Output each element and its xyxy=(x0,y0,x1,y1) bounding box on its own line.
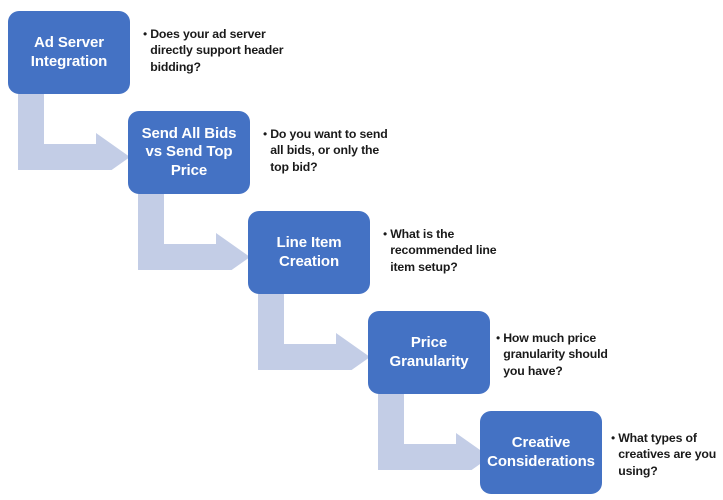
step-note-price-granularity: •How much price granularity should you h… xyxy=(496,330,621,379)
arrow-shape xyxy=(258,294,370,370)
bullet-icon: • xyxy=(263,126,267,142)
connector-2-to-3-glyph xyxy=(138,194,250,270)
step-note-text-ad-server-integration: Does your ad server directly support hea… xyxy=(150,26,293,75)
step-node-ad-server-integration[interactable]: Ad Server Integration xyxy=(8,11,130,94)
step-note-send-all-bids-vs-send-top-price: •Do you want to send all bids, or only t… xyxy=(263,126,391,175)
arrow-shape xyxy=(378,394,490,470)
step-label-line-item-creation: Line Item Creation xyxy=(277,234,342,271)
connector-1-to-2-glyph xyxy=(18,94,130,170)
arrow-shape xyxy=(18,94,130,170)
step-node-creative-considerations[interactable]: Creative Considerations xyxy=(480,411,602,494)
step-label-creative-considerations: Creative Considerations xyxy=(487,434,595,471)
step-label-send-all-bids-vs-send-top-price: Send All Bids vs Send Top Price xyxy=(142,125,237,180)
connector-1-to-2 xyxy=(18,94,130,170)
bullet-icon: • xyxy=(143,26,147,42)
connector-2-to-3 xyxy=(138,194,250,270)
step-label-ad-server-integration: Ad Server Integration xyxy=(31,34,107,71)
step-note-text-creative-considerations: What types of creatives are you using? xyxy=(618,430,719,479)
step-label-price-granularity: Price Granularity xyxy=(390,334,469,371)
connector-3-to-4-glyph xyxy=(258,294,370,370)
bullet-icon: • xyxy=(611,430,615,446)
step-note-line-item-creation: •What is the recommended line item setup… xyxy=(383,226,513,275)
bullet-icon: • xyxy=(383,226,387,242)
flowchart-canvas: Ad Server Integration•Does your ad serve… xyxy=(0,0,723,500)
step-note-text-price-granularity: How much price granularity should you ha… xyxy=(503,330,621,379)
connector-4-to-5 xyxy=(378,394,490,470)
arrow-shape xyxy=(138,194,250,270)
step-note-text-send-all-bids-vs-send-top-price: Do you want to send all bids, or only th… xyxy=(270,126,391,175)
bullet-icon: • xyxy=(496,330,500,346)
step-node-line-item-creation[interactable]: Line Item Creation xyxy=(248,211,370,294)
step-node-price-granularity[interactable]: Price Granularity xyxy=(368,311,490,394)
connector-4-to-5-glyph xyxy=(378,394,490,470)
connector-3-to-4 xyxy=(258,294,370,370)
step-note-ad-server-integration: •Does your ad server directly support he… xyxy=(143,26,293,75)
step-note-text-line-item-creation: What is the recommended line item setup? xyxy=(390,226,513,275)
step-node-send-all-bids-vs-send-top-price[interactable]: Send All Bids vs Send Top Price xyxy=(128,111,250,194)
step-note-creative-considerations: •What types of creatives are you using? xyxy=(611,430,719,479)
